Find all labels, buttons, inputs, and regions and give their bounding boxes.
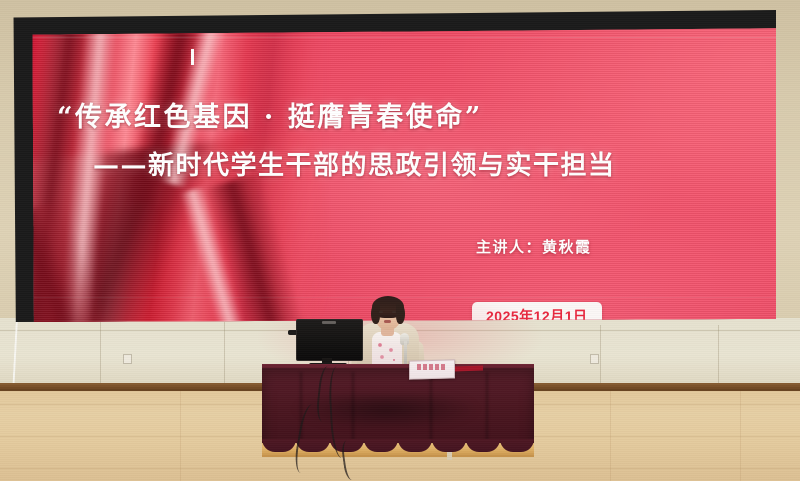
table-red-item (455, 366, 483, 372)
monitor-brand-logo (322, 321, 336, 324)
presenter-area (0, 0, 800, 481)
presenter-mouth (384, 320, 391, 323)
presenter-eye-right (392, 311, 396, 313)
cloth-fold-3 (430, 372, 432, 446)
table-leg-right (447, 452, 452, 460)
screenshot-root: “传承红色基因 · 挺膺青春使命” ——新时代学生干部的思政引领与实干担当 主讲… (0, 0, 800, 481)
presenter-top-pattern (375, 341, 399, 365)
presenter-hair-left (371, 304, 380, 324)
cloth-fold-4 (486, 372, 488, 446)
speaker-name-card-text (417, 364, 445, 370)
monitor-icon[interactable] (296, 319, 363, 361)
presenter-eye-left (379, 311, 383, 313)
microphone-stand (404, 341, 407, 366)
presenter-hair-right (396, 304, 405, 324)
